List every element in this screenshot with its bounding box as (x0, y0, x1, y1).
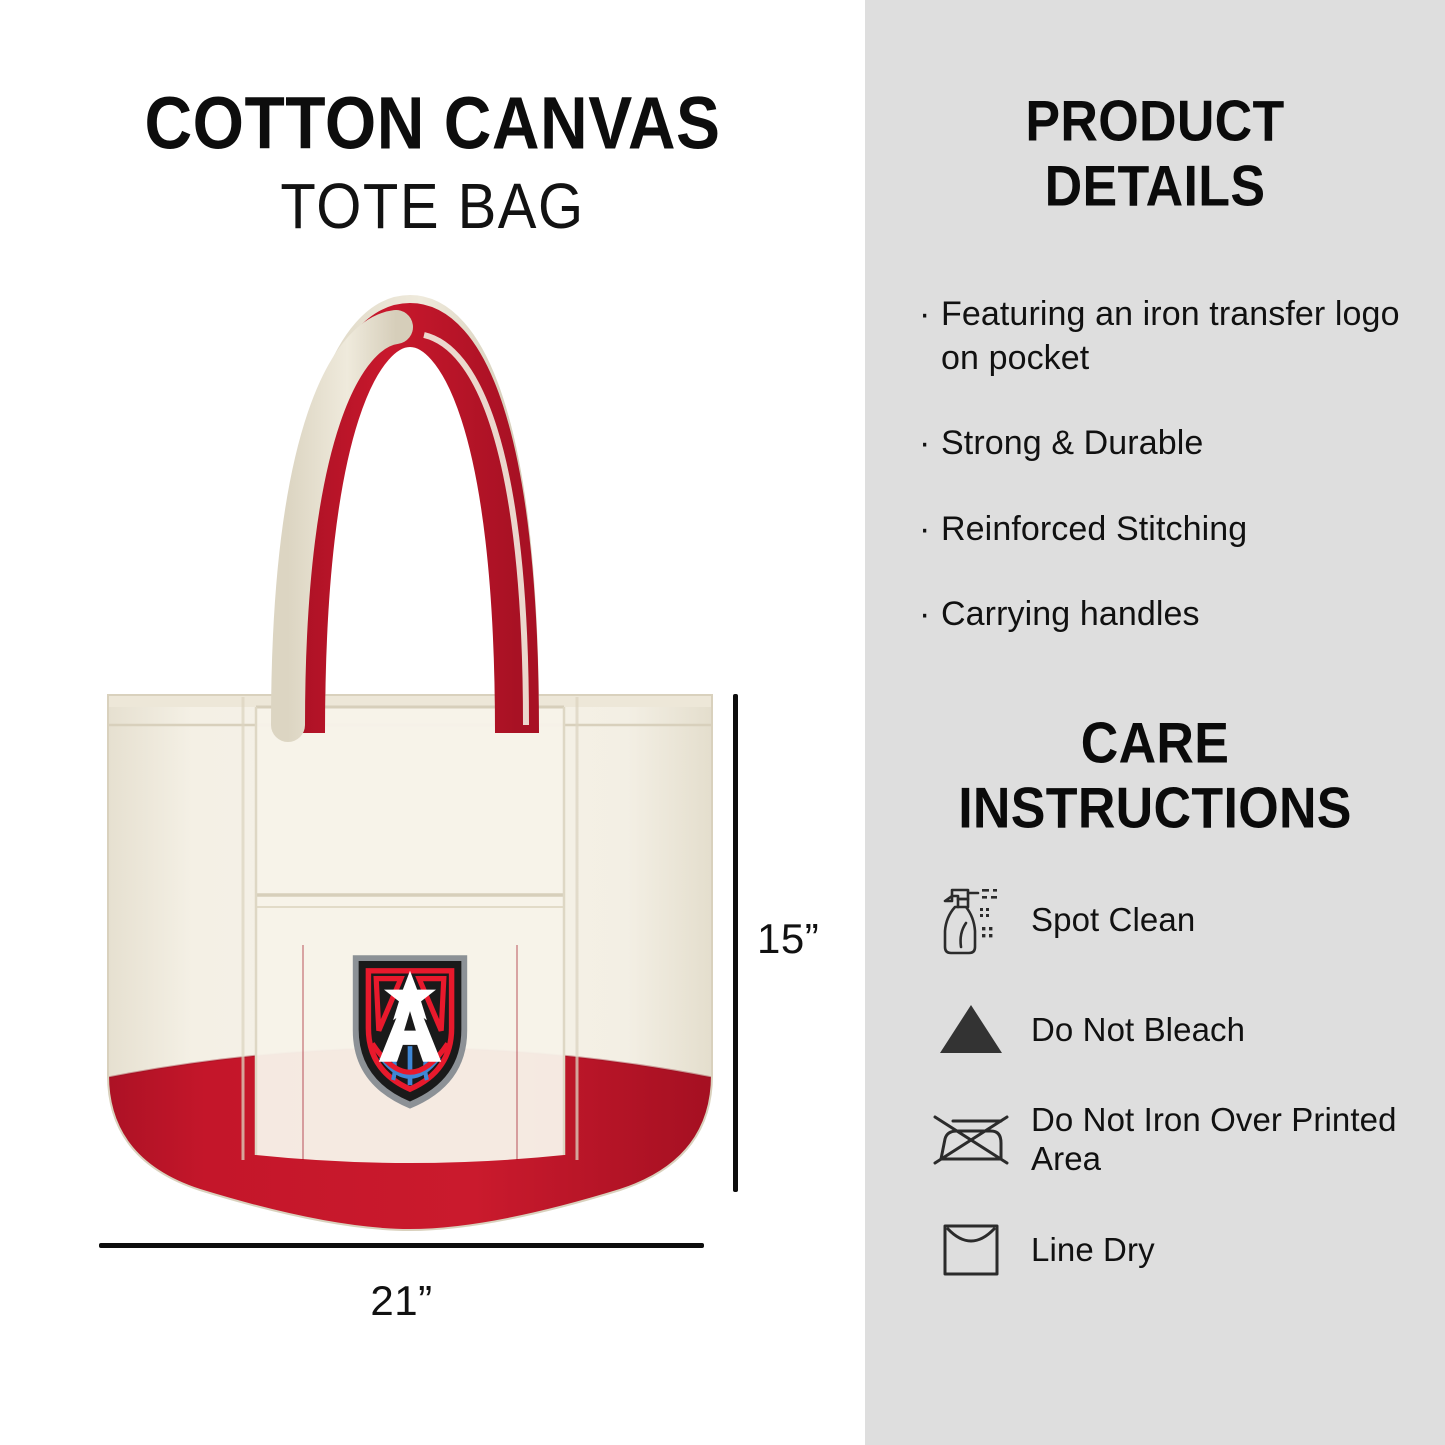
care-item-spot-clean: Spot Clean (911, 872, 1431, 968)
bullet-marker-icon: · (919, 422, 941, 466)
care-item-line-dry: Line Dry (911, 1202, 1431, 1298)
iron-crossed-out-icon (911, 1097, 1031, 1183)
care-instructions-list: Spot Clean Do Not Bleach (911, 872, 1431, 1298)
spray-bottle-icon (911, 877, 1031, 963)
list-item: · Carrying handles (919, 593, 1419, 637)
product-details-heading-line-1: PRODUCT (865, 90, 1445, 155)
list-item-label: Reinforced Stitching (941, 508, 1247, 552)
care-item-label: Do Not Iron Over Printed Area (1031, 1101, 1431, 1179)
care-item-do-not-iron: Do Not Iron Over Printed Area (911, 1092, 1431, 1188)
solid-triangle-icon (911, 987, 1031, 1073)
bullet-marker-icon: · (919, 593, 941, 637)
height-dimension-label: 15” (757, 915, 819, 963)
care-instructions-heading: CARE INSTRUCTIONS (865, 712, 1445, 842)
details-panel: PRODUCT DETAILS · Featuring an iron tran… (865, 0, 1445, 1445)
list-item: · Featuring an iron transfer logo on poc… (919, 293, 1419, 380)
product-details-heading: PRODUCT DETAILS (865, 90, 1445, 220)
care-instructions-heading-line-1: CARE (865, 712, 1445, 777)
care-item-label: Spot Clean (1031, 901, 1195, 940)
bullet-marker-icon: · (919, 508, 941, 552)
height-dimension-line (733, 694, 738, 1192)
title-line-1: COTTON CANVAS (0, 86, 865, 161)
width-dimension-line (99, 1243, 704, 1248)
list-item: · Reinforced Stitching (919, 508, 1419, 552)
care-instructions-heading-line-2: INSTRUCTIONS (865, 777, 1445, 842)
list-item: · Strong & Durable (919, 422, 1419, 466)
care-item-label: Do Not Bleach (1031, 1011, 1245, 1050)
list-item-label: Featuring an iron transfer logo on pocke… (941, 293, 1419, 380)
list-item-label: Strong & Durable (941, 422, 1203, 466)
product-details-list: · Featuring an iron transfer logo on poc… (919, 293, 1419, 637)
page-title: COTTON CANVAS TOTE BAG (0, 86, 865, 233)
width-dimension-label: 21” (99, 1277, 704, 1325)
product-image-panel: COTTON CANVAS TOTE BAG (0, 0, 865, 1445)
care-item-do-not-bleach: Do Not Bleach (911, 982, 1431, 1078)
list-item-label: Carrying handles (941, 593, 1200, 637)
title-line-2: TOTE BAG (0, 175, 865, 239)
tote-bag-illustration (60, 255, 760, 1235)
care-item-label: Line Dry (1031, 1231, 1155, 1270)
infographic-page: COTTON CANVAS TOTE BAG (0, 0, 1445, 1445)
line-dry-icon (911, 1207, 1031, 1293)
bullet-marker-icon: · (919, 293, 941, 337)
product-details-heading-line-2: DETAILS (865, 155, 1445, 220)
